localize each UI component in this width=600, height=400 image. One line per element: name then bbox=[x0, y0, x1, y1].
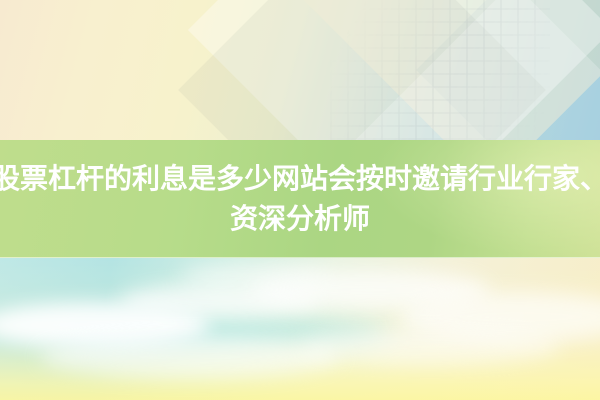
facet-grid-texture bbox=[330, 0, 550, 140]
title-line-1: 股票杠杆的利息是多少网站会按时邀请行业行家、 bbox=[0, 159, 600, 199]
facet-shape-edge bbox=[178, 0, 546, 140]
facet-shape-highlight bbox=[350, 0, 600, 140]
sky-cloud-band bbox=[0, 258, 600, 400]
cloud-shape bbox=[400, 292, 600, 342]
cloud-shape bbox=[250, 270, 490, 310]
facet-shape-light bbox=[188, 0, 600, 140]
cloud-tint bbox=[60, 314, 390, 348]
cloud-shape bbox=[180, 264, 330, 286]
facet-shape-cream bbox=[264, 0, 600, 140]
promo-banner: 股票杠杆的利息是多少网站会按时邀请行业行家、 资深分析师 bbox=[0, 0, 600, 400]
facet-shape-cool bbox=[416, 0, 600, 140]
header-gradient-band bbox=[0, 0, 600, 140]
title-line-2: 资深分析师 bbox=[230, 199, 370, 239]
banner-title: 股票杠杆的利息是多少网站会按时邀请行业行家、 资深分析师 bbox=[0, 140, 600, 258]
cloud-shape bbox=[120, 284, 320, 318]
